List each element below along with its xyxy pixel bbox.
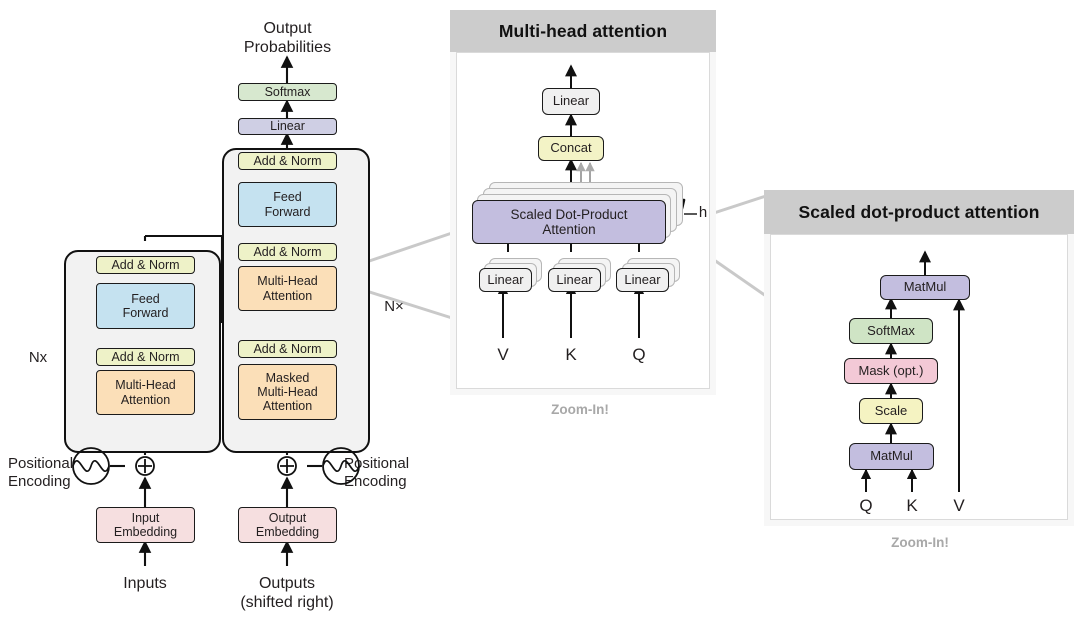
multi-head-zoom-caption: Zoom-In! <box>500 402 660 417</box>
mha-input-v-label: V <box>489 345 517 365</box>
sdpa-input-q-label: Q <box>852 496 880 516</box>
input-embedding-box[interactable]: Input Embedding <box>96 507 195 543</box>
scaled-dot-product-zoom-caption: Zoom-In! <box>840 535 1000 550</box>
encoder-feed-forward[interactable]: Feed Forward <box>96 283 195 329</box>
scaled-dot-product-panel-title: Scaled dot-product attention <box>764 190 1074 234</box>
output-probabilities-label: Output Probabilities <box>215 20 360 58</box>
sdpa-matmul-bottom[interactable]: MatMul <box>849 443 934 470</box>
encoder-add-norm-low[interactable]: Add & Norm <box>96 348 195 366</box>
mha-linear-q[interactable]: Linear <box>616 268 669 292</box>
decoder-feed-forward[interactable]: Feed Forward <box>238 182 337 227</box>
mha-output-linear[interactable]: Linear <box>542 88 600 115</box>
decoder-softmax-box[interactable]: Softmax <box>238 83 337 101</box>
output-embedding-box[interactable]: Output Embedding <box>238 507 337 543</box>
mha-linear-k[interactable]: Linear <box>548 268 601 292</box>
nx-decoder-label: N× <box>378 298 410 316</box>
decoder-masked-multi-head-attention[interactable]: Masked Multi-Head Attention <box>238 364 337 420</box>
sdpa-input-k-label: K <box>898 496 926 516</box>
encoder-multi-head-attention[interactable]: Multi-Head Attention <box>96 370 195 415</box>
sdpa-matmul-top[interactable]: MatMul <box>880 275 970 300</box>
mha-input-k-label: K <box>557 345 585 365</box>
inputs-label: Inputs <box>92 575 198 594</box>
decoder-add-circle <box>278 457 296 475</box>
mha-linear-v[interactable]: Linear <box>479 268 532 292</box>
decoder-multi-head-attention[interactable]: Multi-Head Attention <box>238 266 337 311</box>
positional-encoding-left-label: Positional Encoding <box>8 455 112 490</box>
outputs-label: Outputs (shifted right) <box>222 575 352 613</box>
mha-head-count-label: h <box>694 204 712 222</box>
sdpa-input-v-label: V <box>945 496 973 516</box>
decoder-linear-box[interactable]: Linear <box>238 118 337 135</box>
sdpa-scale[interactable]: Scale <box>859 398 923 424</box>
nx-encoder-label: Nx <box>22 349 54 367</box>
encoder-add-norm-top[interactable]: Add & Norm <box>96 256 195 274</box>
mha-concat[interactable]: Concat <box>538 136 604 161</box>
multi-head-attention-panel-title: Multi-head attention <box>450 10 716 52</box>
positional-encoding-right-label: Positional Encoding <box>344 455 448 490</box>
diagram-canvas: Output Probabilities Inputs Outputs (shi… <box>0 0 1080 622</box>
mha-scaled-dot-product-attention[interactable]: Scaled Dot-Product Attention <box>472 200 666 244</box>
decoder-add-norm-low[interactable]: Add & Norm <box>238 340 337 358</box>
sdpa-mask[interactable]: Mask (opt.) <box>844 358 938 384</box>
decoder-add-norm-top[interactable]: Add & Norm <box>238 152 337 170</box>
encoder-add-circle <box>136 457 154 475</box>
mha-input-q-label: Q <box>625 345 653 365</box>
decoder-add-norm-mid[interactable]: Add & Norm <box>238 243 337 261</box>
sdpa-softmax[interactable]: SoftMax <box>849 318 933 344</box>
